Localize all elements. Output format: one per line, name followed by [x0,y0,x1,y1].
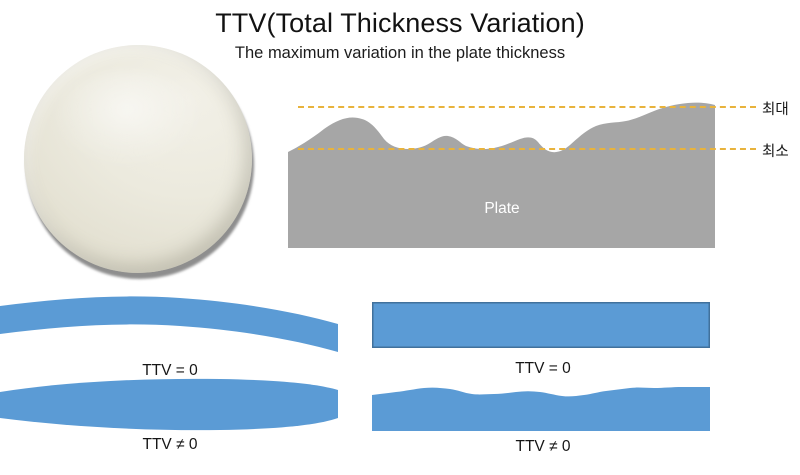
max-reference-line [298,106,756,108]
plate-shape [288,95,718,253]
slide-canvas: TTV(Total Thickness Variation) The maxim… [0,0,800,475]
wafer-highlight [52,71,202,167]
flat-plate-shape [372,302,714,354]
max-reference-label: 최대 [762,98,789,119]
bowed-plate-shape [0,296,340,362]
example-wavy-caption: TTV ≠ 0 [372,438,714,456]
plate-cross-section: Plate [288,95,718,253]
example-bowed-plate: TTV = 0 [0,296,340,384]
example-flat-plate: TTV = 0 [372,302,714,384]
min-reference-line [298,148,756,150]
wafer-photo [18,33,263,281]
example-flat-caption: TTV = 0 [372,360,714,378]
lens-plate-shape [0,378,340,436]
example-wavy-plate: TTV ≠ 0 [372,386,714,472]
wafer-disc [24,45,252,273]
wavy-plate-shape [372,386,714,438]
example-lens-plate: TTV ≠ 0 [0,378,340,470]
min-reference-label: 최소 [762,140,789,161]
example-lens-caption: TTV ≠ 0 [0,436,340,454]
